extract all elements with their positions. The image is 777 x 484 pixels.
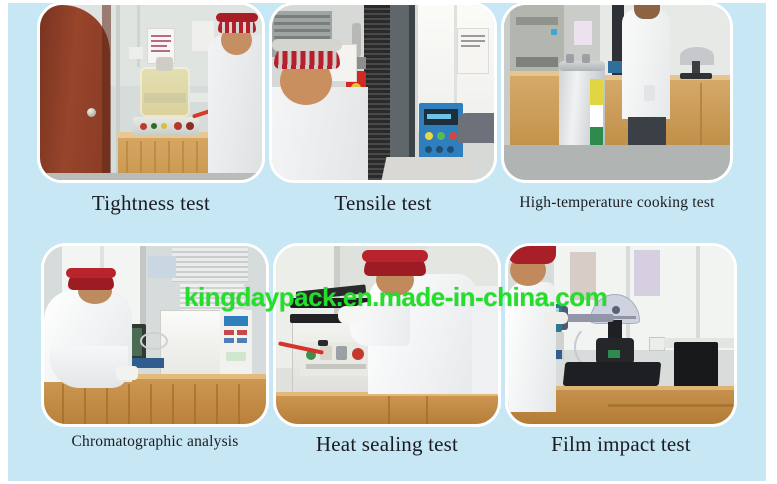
card-label-high-temperature-cooking-test: High-temperature cooking test — [497, 194, 737, 212]
card-label-film-impact-test: Film impact test — [508, 432, 734, 457]
card-label-tensile-test: Tensile test — [272, 191, 494, 216]
photo-high-temperature-cooking-test[interactable] — [504, 5, 730, 180]
photo-scene — [276, 246, 498, 424]
card-label-chromatographic-analysis: Chromatographic analysis — [34, 433, 276, 451]
photo-heat-sealing-test[interactable] — [276, 246, 498, 424]
watermark-text: kingdaypack.en.made-in-china.com — [184, 282, 607, 313]
photo-chromatographic-analysis[interactable] — [44, 246, 266, 424]
photo-tensile-test[interactable] — [272, 5, 494, 180]
photo-scene — [44, 246, 266, 424]
card-label-tightness-test: Tightness test — [40, 191, 262, 216]
card-label-heat-sealing-test: Heat sealing test — [276, 432, 498, 457]
photo-tightness-test[interactable] — [40, 5, 262, 180]
photo-film-impact-test[interactable] — [508, 246, 734, 424]
photo-scene — [272, 5, 494, 180]
photo-scene — [508, 246, 734, 424]
photo-scene — [40, 5, 262, 180]
photo-scene — [504, 5, 730, 180]
gallery-panel: Tightness test — [8, 3, 766, 481]
screenshot-root: Tightness test — [0, 0, 777, 484]
